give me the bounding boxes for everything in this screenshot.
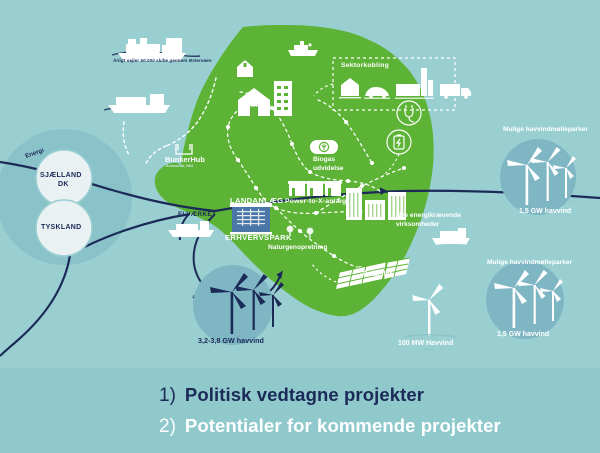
infographic-map: Energi Energi	[0, 0, 600, 453]
legend: 1) Politisk vedtagne projekter 2) Potent…	[0, 368, 600, 453]
biogas-icon	[310, 140, 338, 154]
landanlaeg-icon	[230, 203, 272, 235]
legend-item-2: 2) Potentialer for kommende projekter	[159, 415, 501, 438]
legend-number-2: 2)	[159, 416, 176, 438]
legend-label-1: Politisk vedtagne projekter	[185, 384, 424, 406]
legend-label-2: Potentialer for kommende projekter	[185, 415, 501, 437]
legend-item-1: 1) Politisk vedtagne projekter	[159, 384, 424, 407]
legend-number-1: 1)	[159, 385, 176, 407]
power-to-x-icons	[288, 181, 342, 196]
tyskland-circle	[36, 200, 92, 256]
sjaelland-circle	[36, 150, 92, 206]
